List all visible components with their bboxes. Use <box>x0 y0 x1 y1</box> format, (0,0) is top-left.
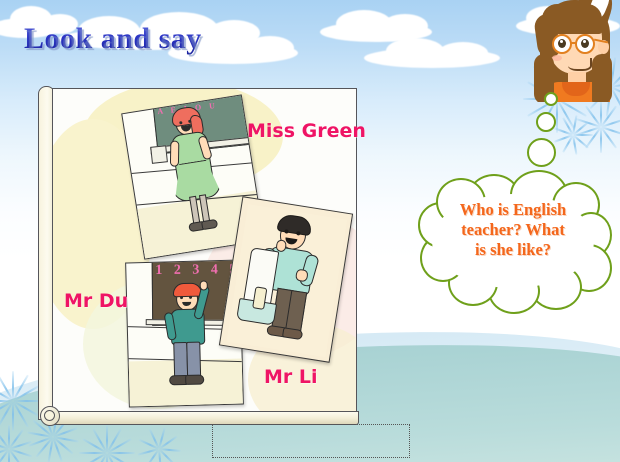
snowflake-icon <box>158 448 159 449</box>
label-mr-du: Mr Du <box>64 290 128 312</box>
snowflake-icon <box>12 400 13 401</box>
cartoon-girl <box>528 0 620 102</box>
page-title: Look and say <box>24 22 202 56</box>
label-miss-green: Miss Green <box>247 120 366 142</box>
thought-tail-small <box>544 92 558 106</box>
thought-line-3: is she like? <box>426 240 600 260</box>
slide-canvas: Look and say Look and say A E I O U <box>0 0 620 462</box>
book-bottom-edge <box>44 411 359 425</box>
chalkboard-text: 1 2 3 4 5 <box>155 262 240 279</box>
snowflake-icon <box>600 126 601 127</box>
photo-mr-li[interactable] <box>219 196 353 363</box>
snowflake-icon <box>8 448 9 449</box>
thought-line-2: teacher? What <box>426 220 600 240</box>
thought-line-1: Who is English <box>426 200 600 220</box>
snowflake-icon <box>572 134 573 135</box>
figure-arm <box>170 141 179 167</box>
figure-hand <box>200 280 208 290</box>
snowflake-icon <box>106 452 107 453</box>
snowflake-icon <box>52 436 53 437</box>
figure-hair <box>173 283 202 298</box>
thought-bubble-text: Who is English teacher? What is she like… <box>426 200 600 260</box>
figure-pants <box>186 342 201 378</box>
thought-bubble: Who is English teacher? What is she like… <box>418 178 608 308</box>
thought-tail-medium <box>536 112 556 132</box>
book-page-curl-inner <box>44 410 55 421</box>
thought-tail-large <box>527 138 556 167</box>
content-placeholder-box[interactable] <box>212 424 410 458</box>
figure-shoe <box>185 375 204 385</box>
label-mr-li: Mr Li <box>264 366 318 388</box>
